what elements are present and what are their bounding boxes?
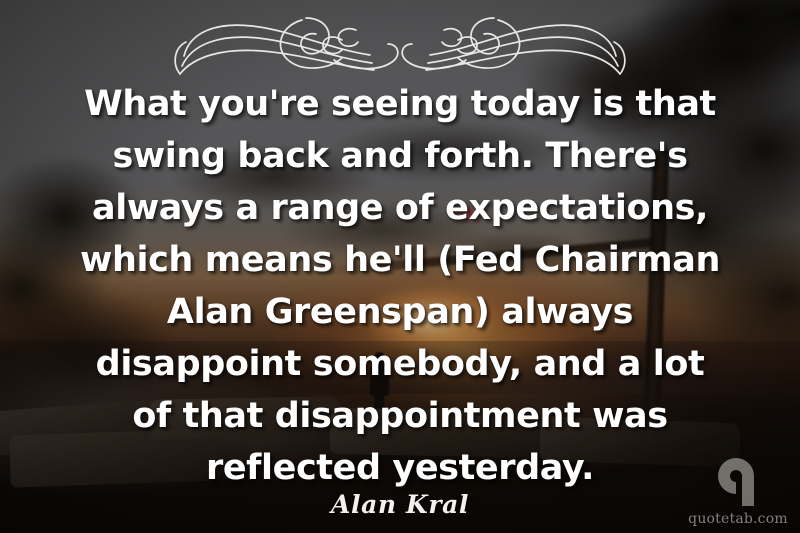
quote-line: disappoint somebody, and a lot [28, 338, 772, 390]
quote-line: reflected yesterday. [28, 442, 772, 494]
quotetab-q-logo-icon[interactable] [710, 454, 766, 510]
author-name: Alan Kral [0, 490, 800, 519]
quote-line: What you're seeing today is that [28, 78, 772, 130]
quote-line: swing back and forth. There's [28, 130, 772, 182]
watermark-site-text[interactable]: quotetab.com [686, 511, 790, 527]
quote-line: always a range of expectations, [28, 182, 772, 234]
quote-text: What you're seeing today is that swing b… [28, 78, 772, 494]
quote-line: of that disappointment was [28, 390, 772, 442]
quote-line: which means he'll (Fed Chairman [28, 234, 772, 286]
flourish-ornament-icon [120, 8, 680, 80]
quote-line: Alan Greenspan) always [28, 286, 772, 338]
watermark[interactable]: quotetab.com [686, 454, 790, 527]
quote-card: What you're seeing today is that swing b… [0, 0, 800, 533]
